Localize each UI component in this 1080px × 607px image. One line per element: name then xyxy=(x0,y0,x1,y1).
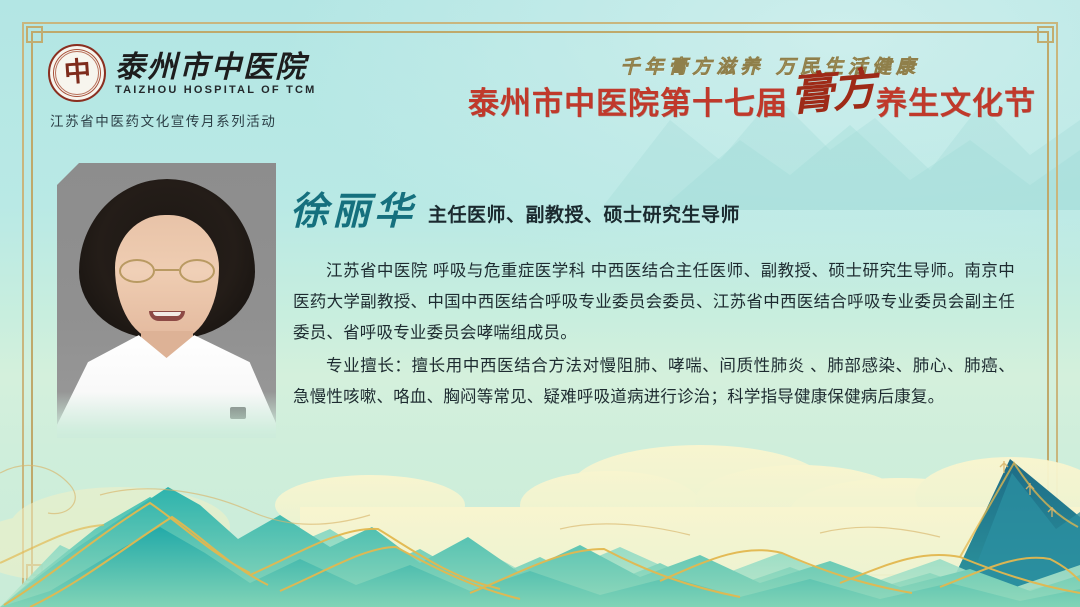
festival-title-brush: 膏方 xyxy=(789,71,876,114)
poster-canvas: 中 泰州市中医院 TAIZHOU HOSPITAL OF TCM 江苏省中医药文… xyxy=(0,0,1080,607)
frame-corner-ornament-top-right xyxy=(1037,26,1054,43)
hospital-branding: 中 泰州市中医院 TAIZHOU HOSPITAL OF TCM 江苏省中医药文… xyxy=(48,44,348,130)
doctor-titles: 主任医师、副教授、硕士研究生导师 xyxy=(428,200,740,230)
seal-character: 中 xyxy=(63,58,92,87)
hospital-name-cn: 泰州市中医院 xyxy=(115,52,317,84)
hospital-name-en: TAIZHOU HOSPITAL OF TCM xyxy=(115,84,317,96)
festival-title-part2: 养生文化节 xyxy=(876,88,1036,121)
doctor-name: 徐丽华 xyxy=(290,192,416,230)
glasses-lens-left xyxy=(119,259,155,283)
frame-corner-ornament-top-left xyxy=(26,26,43,43)
hospital-seal-logo: 中 xyxy=(48,44,106,102)
festival-title-part1: 泰州市中医院第十七届 xyxy=(468,88,788,121)
glasses-lens-right xyxy=(179,259,215,283)
mountain-landscape-illustration xyxy=(0,377,1080,607)
campaign-subtitle: 江苏省中医药文化宣传月系列活动 xyxy=(50,110,348,130)
glasses-bridge xyxy=(155,269,179,271)
doctor-heading: 徐丽华 主任医师、副教授、硕士研究生导师 xyxy=(290,192,740,230)
portrait-mouth xyxy=(149,311,185,321)
bio-paragraph: 江苏省中医院 呼吸与危重症医学科 中西医结合主任医师、副教授、硕士研究生导师。南… xyxy=(293,256,1015,349)
portrait-glasses-icon xyxy=(117,259,217,283)
festival-title-block: 千年膏方滋养 万民生活健康 泰州市中医院第十七届 膏方 养生文化节 xyxy=(468,52,1036,120)
